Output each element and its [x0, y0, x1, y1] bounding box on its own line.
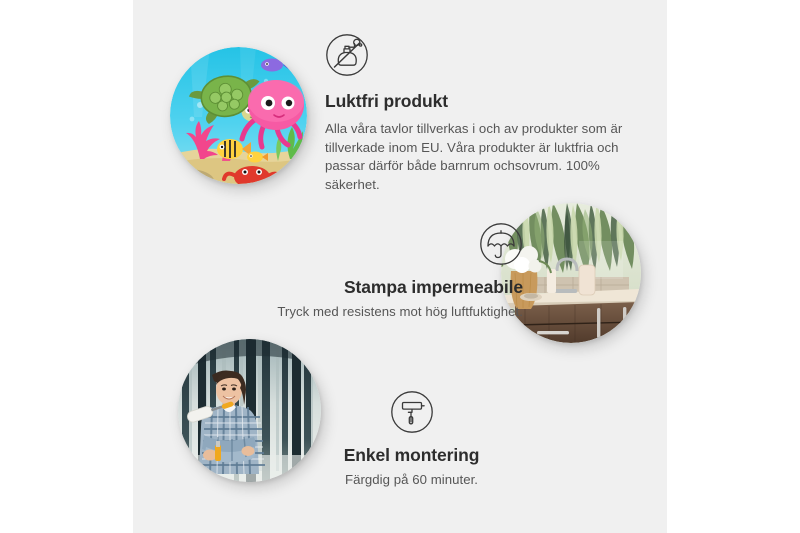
feature-title: Luktfri produkt	[325, 91, 645, 113]
umbrella-icon	[183, 222, 523, 271]
feature-description: Tryck med resistens mot hög luftfuktighe…	[183, 303, 523, 322]
image-kids-underwater	[170, 47, 307, 184]
no-odour-spray-bottle-icon	[325, 33, 645, 82]
feature-block-easy-mounting: Enkel montering Färgdig på 60 minuter.	[290, 390, 533, 490]
feature-block-waterproof: Stampa impermeabile Tryck med resistens …	[183, 222, 523, 322]
feature-description: Färgdig på 60 minuter.	[290, 471, 533, 490]
feature-title: Enkel montering	[290, 445, 533, 467]
feature-title: Stampa impermeabile	[183, 277, 523, 299]
content-panel: Luktfri produkt Alla våra tavlor tillver…	[133, 0, 667, 533]
feature-description: Alla våra tavlor tillverkas i och av pro…	[325, 120, 645, 195]
feature-block-odourless: Luktfri produkt Alla våra tavlor tillver…	[325, 33, 645, 195]
paint-roller-icon	[290, 390, 533, 439]
